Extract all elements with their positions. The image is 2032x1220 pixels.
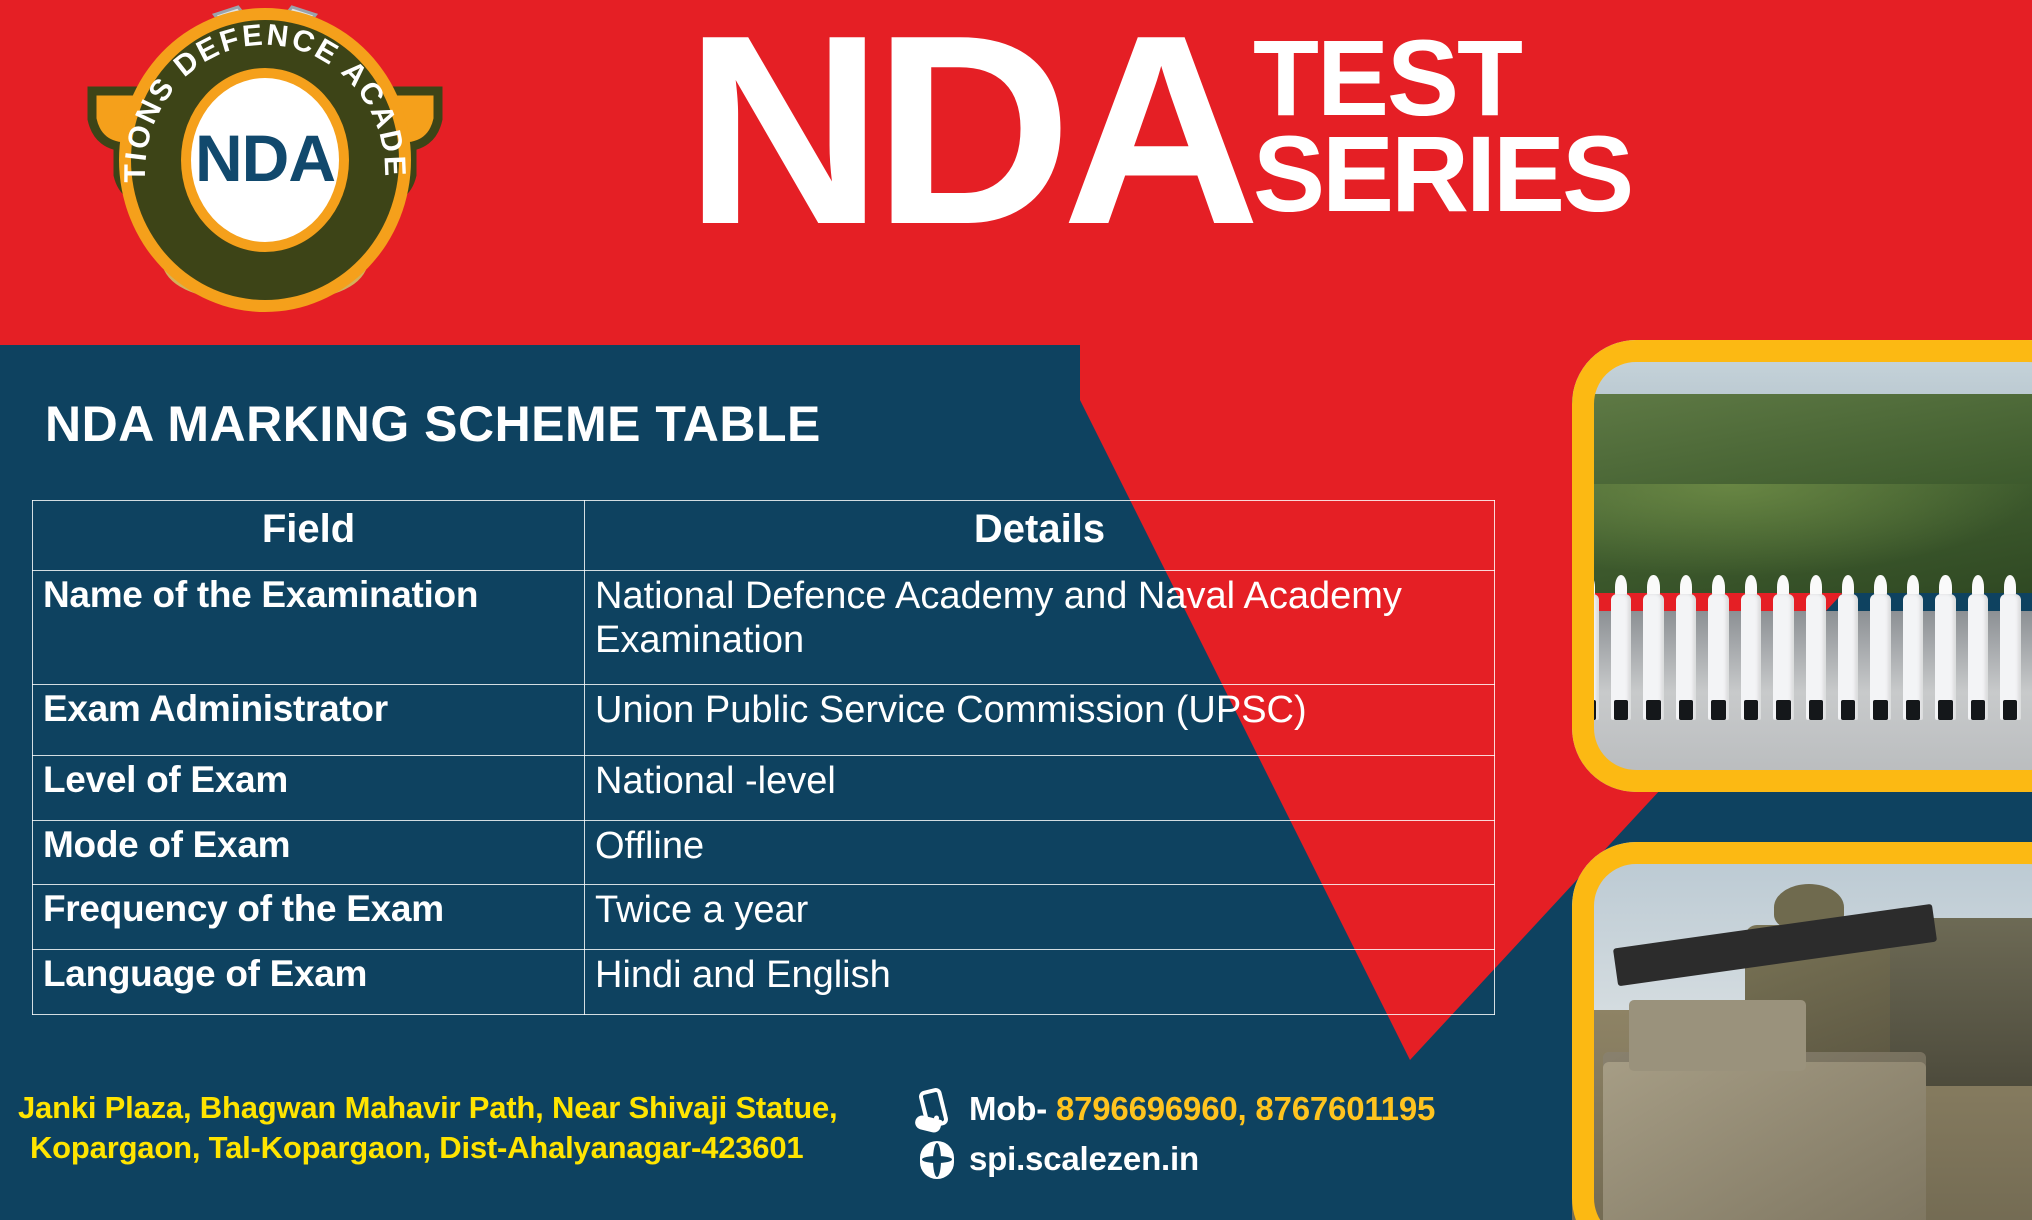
- nda-crest-wings-swords-icon: NATIONS DEFENCE ACADEMY NDA: [70, 5, 460, 325]
- cell-field: Language of Exam: [33, 950, 585, 1015]
- mobile-phone-icon: [915, 1086, 955, 1132]
- logo-center-text: NDA: [195, 121, 335, 195]
- cell-details: Twice a year: [585, 885, 1495, 950]
- table-row: Level of Exam National -level: [33, 756, 1495, 821]
- footer: Janki Plaza, Bhagwan Mahavir Path, Near …: [0, 1070, 2032, 1220]
- photo-cadet-row: [1572, 566, 2032, 720]
- naval-cadets-parade-photo: [1572, 340, 2032, 792]
- photo-hills: [1572, 394, 2032, 593]
- cell-details: Hindi and English: [585, 950, 1495, 1015]
- table-row: Exam Administrator Union Public Service …: [33, 685, 1495, 756]
- table-row: Language of Exam Hindi and English: [33, 950, 1495, 1015]
- address-line-2: Kopargaon, Tal-Kopargaon, Dist-Ahalyanag…: [18, 1128, 837, 1168]
- cell-details: Offline: [585, 820, 1495, 885]
- headline-test-series: TEST SERIES: [1253, 30, 1631, 222]
- cell-field: Name of the Examination: [33, 571, 585, 685]
- contact-block: Mob- 8796696960, 8767601195 spi.scalezen…: [915, 1084, 1435, 1184]
- mobile-label-and-numbers: Mob- 8796696960, 8767601195: [969, 1090, 1435, 1128]
- headline-test: TEST: [1253, 30, 1631, 126]
- column-header-details: Details: [585, 501, 1495, 571]
- cell-field: Level of Exam: [33, 756, 585, 821]
- mobile-numbers: 8796696960, 8767601195: [1056, 1090, 1435, 1127]
- table-header-row: Field Details: [33, 501, 1495, 571]
- table-row: Name of the Examination National Defence…: [33, 571, 1495, 685]
- contact-website-row[interactable]: spi.scalezen.in: [915, 1134, 1435, 1184]
- contact-phone-row[interactable]: Mob- 8796696960, 8767601195: [915, 1084, 1435, 1134]
- page-title: NDA MARKING SCHEME TABLE: [45, 395, 821, 453]
- cell-details: National Defence Academy and Naval Acade…: [585, 571, 1495, 685]
- address-line-1: Janki Plaza, Bhagwan Mahavir Path, Near …: [18, 1090, 837, 1125]
- cell-details: National -level: [585, 756, 1495, 821]
- cell-field: Mode of Exam: [33, 820, 585, 885]
- table-row: Mode of Exam Offline: [33, 820, 1495, 885]
- website-url: spi.scalezen.in: [969, 1140, 1199, 1178]
- cell-field: Exam Administrator: [33, 685, 585, 756]
- nda-test-series-poster: NATIONS DEFENCE ACADEMY NDA NDA TEST SER…: [0, 0, 2032, 1220]
- poster-headline: NDA TEST SERIES: [690, 8, 1631, 253]
- headline-nda: NDA: [684, 8, 1250, 253]
- address-block: Janki Plaza, Bhagwan Mahavir Path, Near …: [18, 1088, 837, 1167]
- mobile-label: Mob-: [969, 1090, 1047, 1127]
- headline-series: SERIES: [1253, 126, 1631, 222]
- table-row: Frequency of the Exam Twice a year: [33, 885, 1495, 950]
- nda-marking-scheme-table: Field Details Name of the Examination Na…: [32, 500, 1495, 1015]
- column-header-field: Field: [33, 501, 585, 571]
- globe-web-icon: [915, 1136, 955, 1182]
- cell-details: Union Public Service Commission (UPSC): [585, 685, 1495, 756]
- cell-field: Frequency of the Exam: [33, 885, 585, 950]
